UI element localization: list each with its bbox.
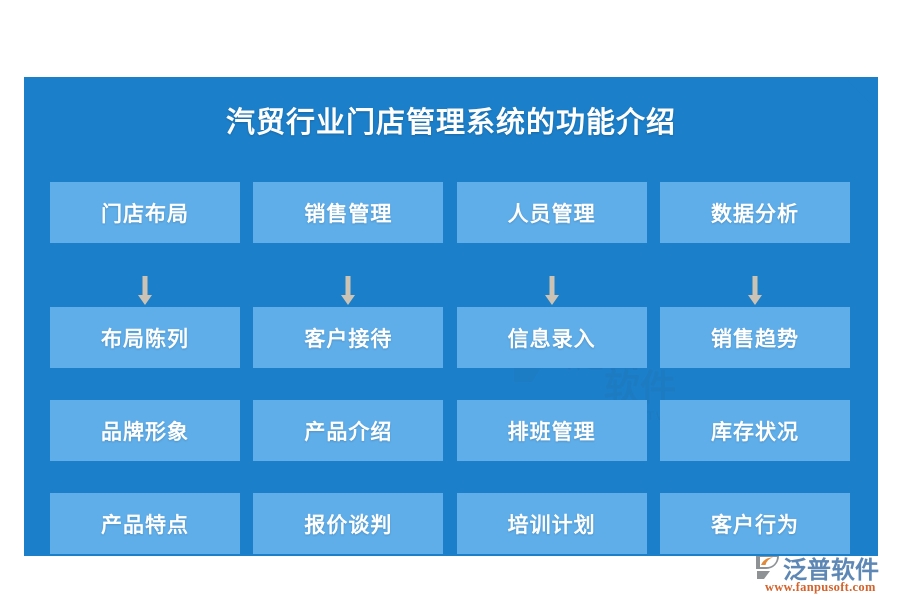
feature-box-customer-behavior[interactable]: 客户行为 bbox=[660, 493, 850, 554]
grid-cell: 培训计划 bbox=[457, 493, 647, 554]
grid-cell: 销售趋势 bbox=[660, 307, 850, 368]
feature-box-customer-reception[interactable]: 客户接待 bbox=[253, 307, 443, 368]
slide-root: 泛普 软件 SOFTWARE 汽贸行业门店管理系统的功能介绍 门店布局 销售管理… bbox=[0, 0, 900, 600]
grid-cell: 数据分析 bbox=[660, 182, 850, 243]
category-box-personnel-management[interactable]: 人员管理 bbox=[457, 182, 647, 243]
grid-row-1: 门店布局 销售管理 人员管理 数据分析 bbox=[50, 182, 850, 243]
arrow-down-icon bbox=[340, 276, 356, 306]
grid-cell: 人员管理 bbox=[457, 182, 647, 243]
grid-cell: 布局陈列 bbox=[50, 307, 240, 368]
brand-logo[interactable]: 泛普软件 www.fanpusoft.com bbox=[754, 553, 894, 597]
page-title: 汽贸行业门店管理系统的功能介绍 bbox=[24, 99, 878, 141]
feature-box-sales-trend[interactable]: 销售趋势 bbox=[660, 307, 850, 368]
category-box-sales-management[interactable]: 销售管理 bbox=[253, 182, 443, 243]
grid-cell: 销售管理 bbox=[253, 182, 443, 243]
grid-cell: 排班管理 bbox=[457, 400, 647, 461]
feature-box-layout-display[interactable]: 布局陈列 bbox=[50, 307, 240, 368]
grid-cell: 信息录入 bbox=[457, 307, 647, 368]
feature-box-brand-image[interactable]: 品牌形象 bbox=[50, 400, 240, 461]
feature-box-inventory-status[interactable]: 库存状况 bbox=[660, 400, 850, 461]
arrow-cell bbox=[50, 275, 240, 307]
fanpu-logo-icon bbox=[754, 554, 781, 580]
grid-cell: 品牌形象 bbox=[50, 400, 240, 461]
feature-box-product-introduction[interactable]: 产品介绍 bbox=[253, 400, 443, 461]
category-box-data-analysis[interactable]: 数据分析 bbox=[660, 182, 850, 243]
arrow-down-icon bbox=[137, 276, 153, 306]
grid-cell: 产品介绍 bbox=[253, 400, 443, 461]
arrow-down-icon bbox=[544, 276, 560, 306]
category-box-store-layout[interactable]: 门店布局 bbox=[50, 182, 240, 243]
feature-box-shift-management[interactable]: 排班管理 bbox=[457, 400, 647, 461]
grid-row-3: 品牌形象 产品介绍 排班管理 库存状况 bbox=[50, 400, 850, 461]
brand-url[interactable]: www.fanpusoft.com bbox=[765, 580, 894, 595]
grid-cell: 报价谈判 bbox=[253, 493, 443, 554]
grid-row-4: 产品特点 报价谈判 培训计划 客户行为 bbox=[50, 493, 850, 554]
arrow-down-icon bbox=[747, 276, 763, 306]
grid-cell: 门店布局 bbox=[50, 182, 240, 243]
feature-box-training-plan[interactable]: 培训计划 bbox=[457, 493, 647, 554]
grid-cell: 产品特点 bbox=[50, 493, 240, 554]
feature-box-information-entry[interactable]: 信息录入 bbox=[457, 307, 647, 368]
feature-box-product-features[interactable]: 产品特点 bbox=[50, 493, 240, 554]
grid-cell: 库存状况 bbox=[660, 400, 850, 461]
arrow-cell bbox=[660, 275, 850, 307]
brand-logo-row: 泛普软件 bbox=[754, 553, 894, 581]
arrow-cell bbox=[253, 275, 443, 307]
arrow-connector-row bbox=[50, 275, 850, 307]
grid-cell: 客户行为 bbox=[660, 493, 850, 554]
feature-box-quotation-negotiation[interactable]: 报价谈判 bbox=[253, 493, 443, 554]
grid-row-2: 布局陈列 客户接待 信息录入 销售趋势 bbox=[50, 307, 850, 368]
content-panel: 泛普 软件 SOFTWARE 汽贸行业门店管理系统的功能介绍 门店布局 销售管理… bbox=[24, 77, 878, 556]
arrow-cell bbox=[457, 275, 647, 307]
grid-cell: 客户接待 bbox=[253, 307, 443, 368]
feature-grid: 门店布局 销售管理 人员管理 数据分析 bbox=[50, 182, 850, 554]
